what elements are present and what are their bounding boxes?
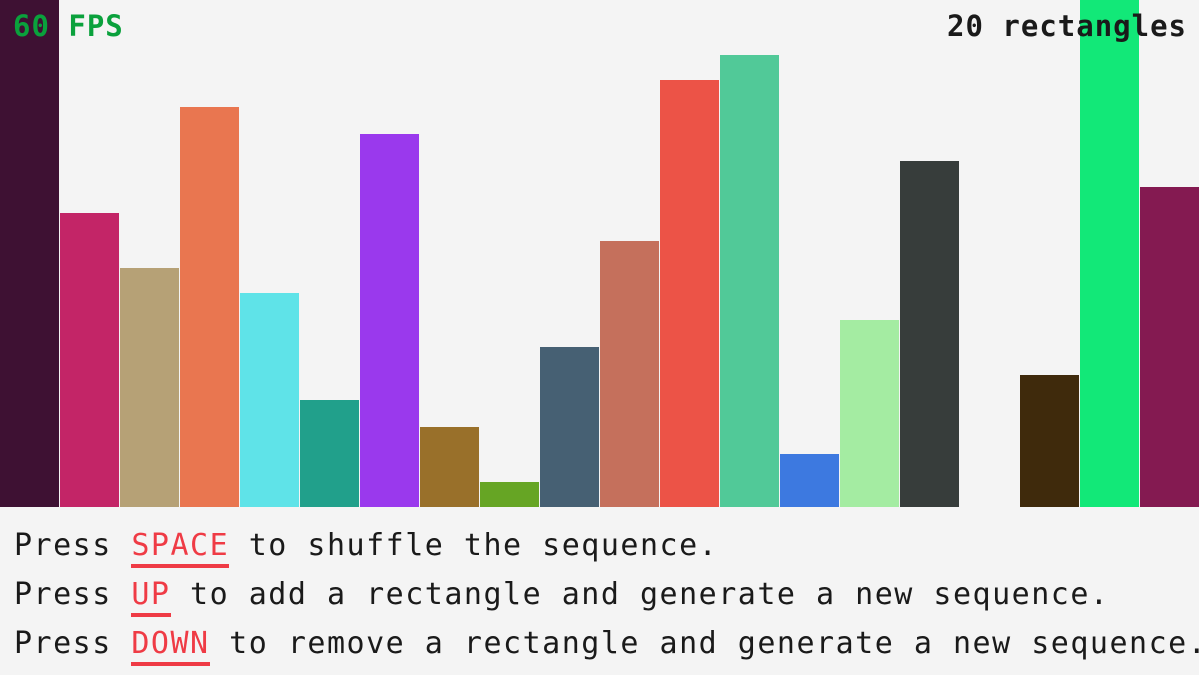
bar-rectangle bbox=[900, 161, 959, 507]
bar-rectangle bbox=[1140, 187, 1199, 507]
bar-rectangle bbox=[540, 347, 599, 507]
instructions-panel: Press SPACE to shuffle the sequence.Pres… bbox=[0, 507, 1199, 675]
instruction-prefix: Press bbox=[14, 528, 131, 563]
instruction-prefix: Press bbox=[14, 626, 131, 661]
bar-rectangle bbox=[240, 293, 299, 507]
bar-rectangle bbox=[300, 400, 359, 507]
app-canvas: 60 FPS 20 rectangles Press SPACE to shuf… bbox=[0, 0, 1199, 675]
bar-rectangle bbox=[180, 107, 239, 507]
bar-rectangle bbox=[60, 213, 119, 507]
bar-rectangle bbox=[360, 134, 419, 507]
bar-rectangle bbox=[480, 482, 539, 507]
rectangle-count-label: 20 rectangles bbox=[947, 12, 1187, 41]
instruction-line-1: Press SPACE to shuffle the sequence. bbox=[14, 521, 1199, 570]
bar-chart bbox=[0, 0, 1199, 507]
bar-rectangle bbox=[120, 268, 179, 507]
bar-rectangle bbox=[780, 454, 839, 507]
bar-rectangle bbox=[0, 0, 59, 507]
bar-rectangle bbox=[1020, 375, 1079, 507]
instruction-suffix: to shuffle the sequence. bbox=[229, 528, 718, 563]
bar-rectangle bbox=[720, 55, 779, 507]
key-hint-up[interactable]: UP bbox=[131, 577, 170, 617]
bar-rectangle bbox=[840, 320, 899, 507]
bar-rectangle bbox=[420, 427, 479, 507]
bar-rectangle bbox=[1080, 0, 1139, 507]
instruction-line-3: Press DOWN to remove a rectangle and gen… bbox=[14, 619, 1199, 668]
key-hint-down[interactable]: DOWN bbox=[131, 626, 209, 666]
bar-rectangle bbox=[660, 80, 719, 507]
bar-rectangle bbox=[600, 241, 659, 507]
instruction-suffix: to add a rectangle and generate a new se… bbox=[171, 577, 1110, 612]
instruction-suffix: to remove a rectangle and generate a new… bbox=[210, 626, 1199, 661]
instruction-prefix: Press bbox=[14, 577, 131, 612]
instruction-line-2: Press UP to add a rectangle and generate… bbox=[14, 570, 1199, 619]
key-hint-space[interactable]: SPACE bbox=[131, 528, 229, 568]
fps-counter: 60 FPS bbox=[13, 12, 124, 41]
